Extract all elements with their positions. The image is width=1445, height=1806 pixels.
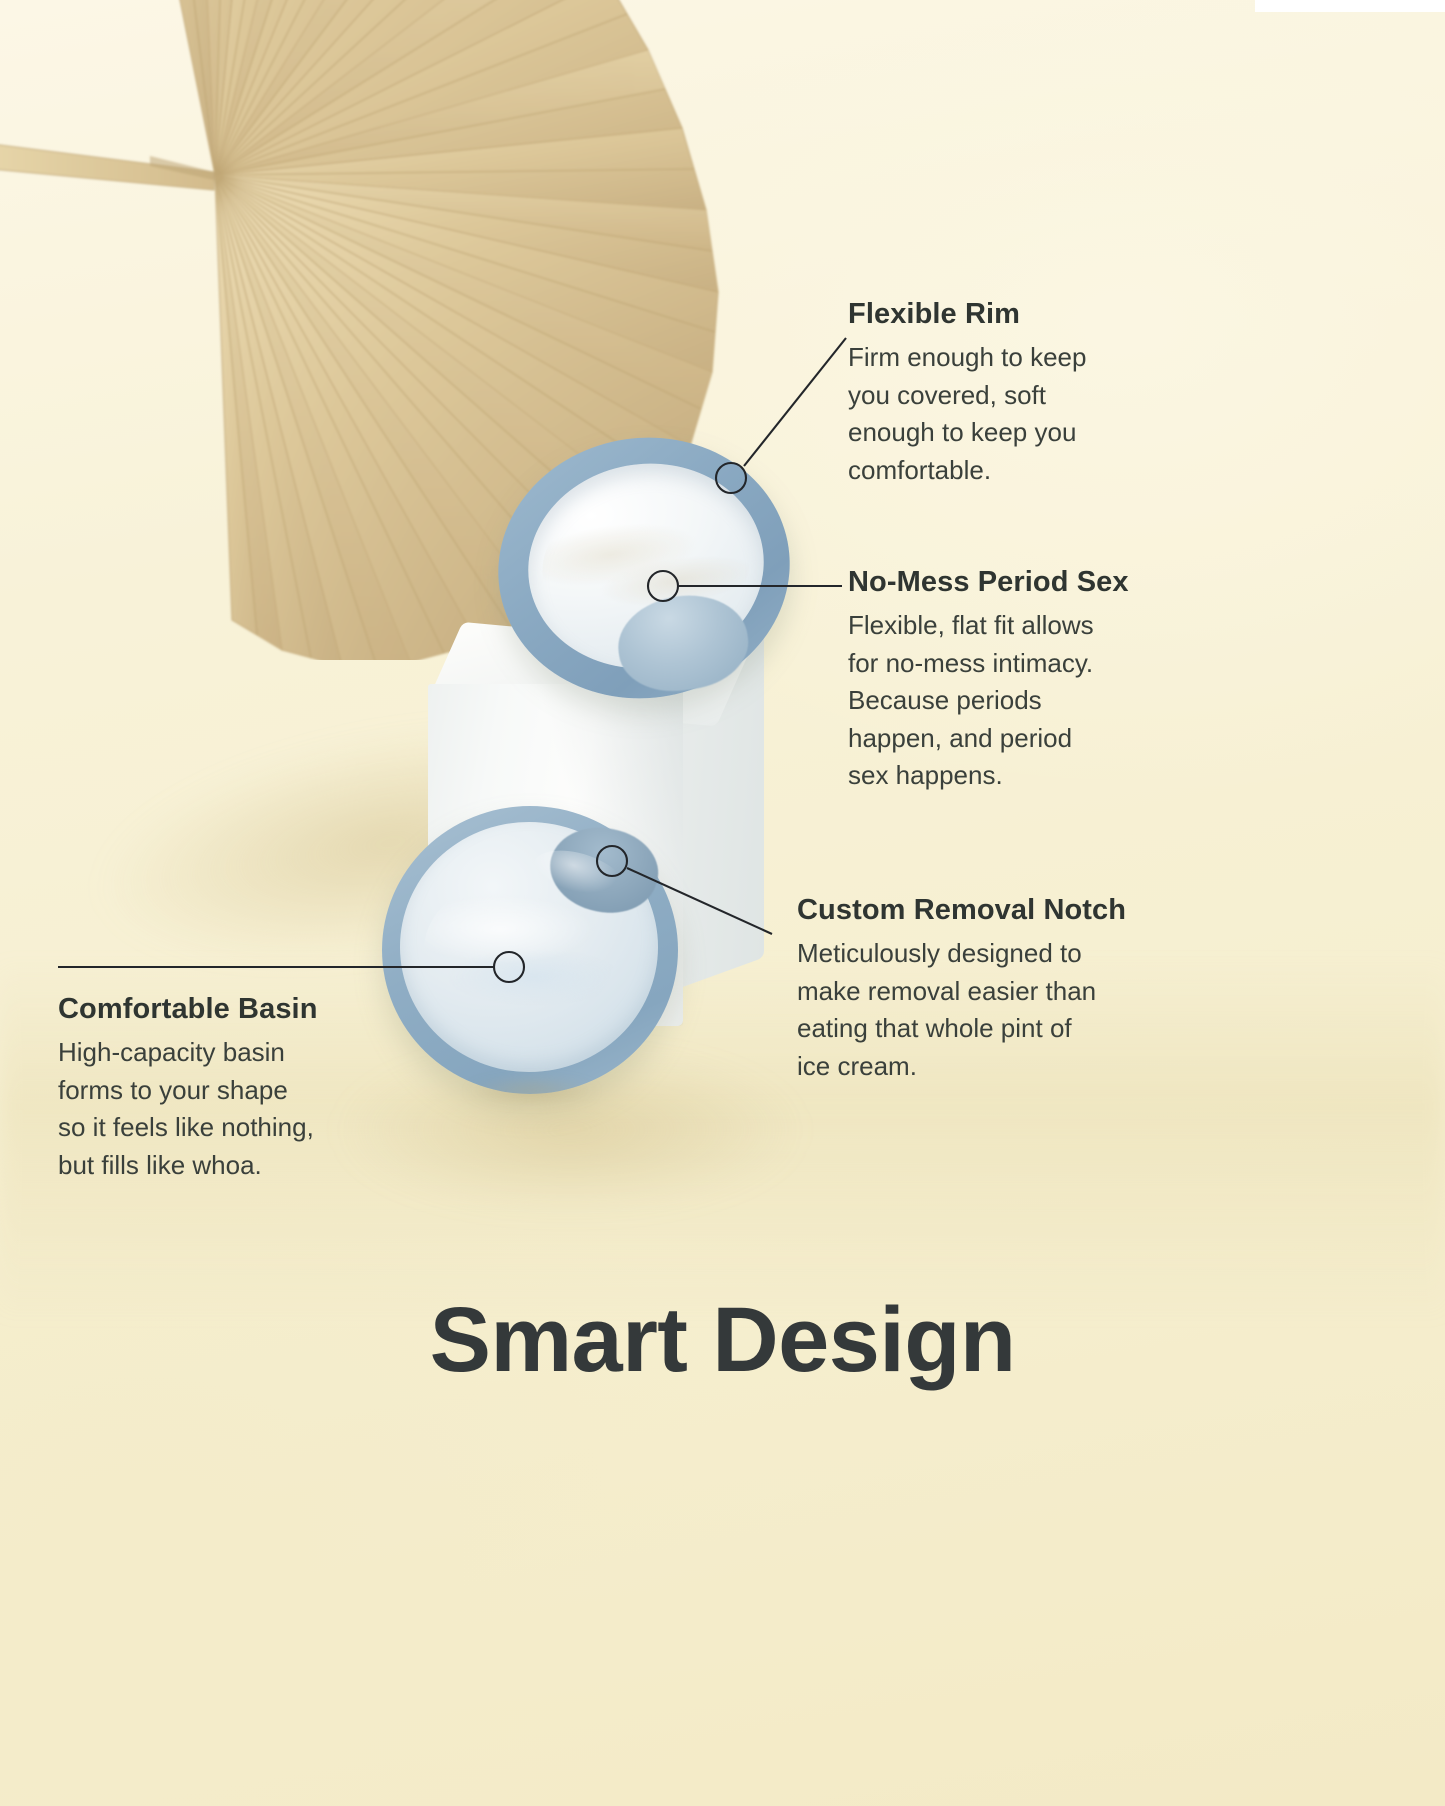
callout-title: Comfortable Basin xyxy=(58,993,318,1025)
callout-body-line: Because periods xyxy=(848,682,1129,719)
callout-no-mess-period-sex: No-Mess Period Sex Flexible, flat fit al… xyxy=(848,566,1129,795)
disc-lower-contact-shadow xyxy=(442,1074,622,1108)
callout-comfortable-basin: Comfortable Basin High-capacity basin fo… xyxy=(58,993,318,1184)
callout-body-line: forms to your shape xyxy=(58,1072,318,1109)
callout-body-line: so it feels like nothing, xyxy=(58,1109,318,1146)
callout-title: Custom Removal Notch xyxy=(797,894,1126,926)
page-title: Smart Design xyxy=(0,1288,1445,1393)
callout-flexible-rim: Flexible Rim Firm enough to keep you cov… xyxy=(848,298,1086,489)
callout-body-line: High-capacity basin xyxy=(58,1034,318,1071)
top-right-white-strip xyxy=(1255,0,1445,12)
callout-body-line: Firm enough to keep xyxy=(848,339,1086,376)
callout-body-line: you covered, soft xyxy=(848,377,1086,414)
callout-body-line: happen, and period xyxy=(848,720,1129,757)
callout-title: Flexible Rim xyxy=(848,298,1086,330)
callout-body-line: ice cream. xyxy=(797,1048,1126,1085)
callout-body: High-capacity basin forms to your shape … xyxy=(58,1034,318,1184)
callout-body-line: but fills like whoa. xyxy=(58,1147,318,1184)
callout-body-line: Meticulously designed to xyxy=(797,935,1126,972)
infographic-canvas: Flexible Rim Firm enough to keep you cov… xyxy=(0,0,1445,1806)
callout-body-line: eating that whole pint of xyxy=(797,1010,1126,1047)
callout-body: Meticulously designed to make removal ea… xyxy=(797,935,1126,1085)
callout-body-line: make removal easier than xyxy=(797,973,1126,1010)
callout-custom-removal-notch: Custom Removal Notch Meticulously design… xyxy=(797,894,1126,1085)
product-disc-upper xyxy=(498,438,790,698)
callout-body-line: comfortable. xyxy=(848,452,1086,489)
callout-body-line: sex happens. xyxy=(848,757,1129,794)
callout-body-line: Flexible, flat fit allows xyxy=(848,607,1129,644)
callout-body-line: enough to keep you xyxy=(848,414,1086,451)
callout-body-line: for no-mess intimacy. xyxy=(848,645,1129,682)
callout-body: Flexible, flat fit allows for no-mess in… xyxy=(848,607,1129,794)
callout-body: Firm enough to keep you covered, soft en… xyxy=(848,339,1086,489)
product-disc-lower xyxy=(382,806,678,1094)
callout-title: No-Mess Period Sex xyxy=(848,566,1129,598)
